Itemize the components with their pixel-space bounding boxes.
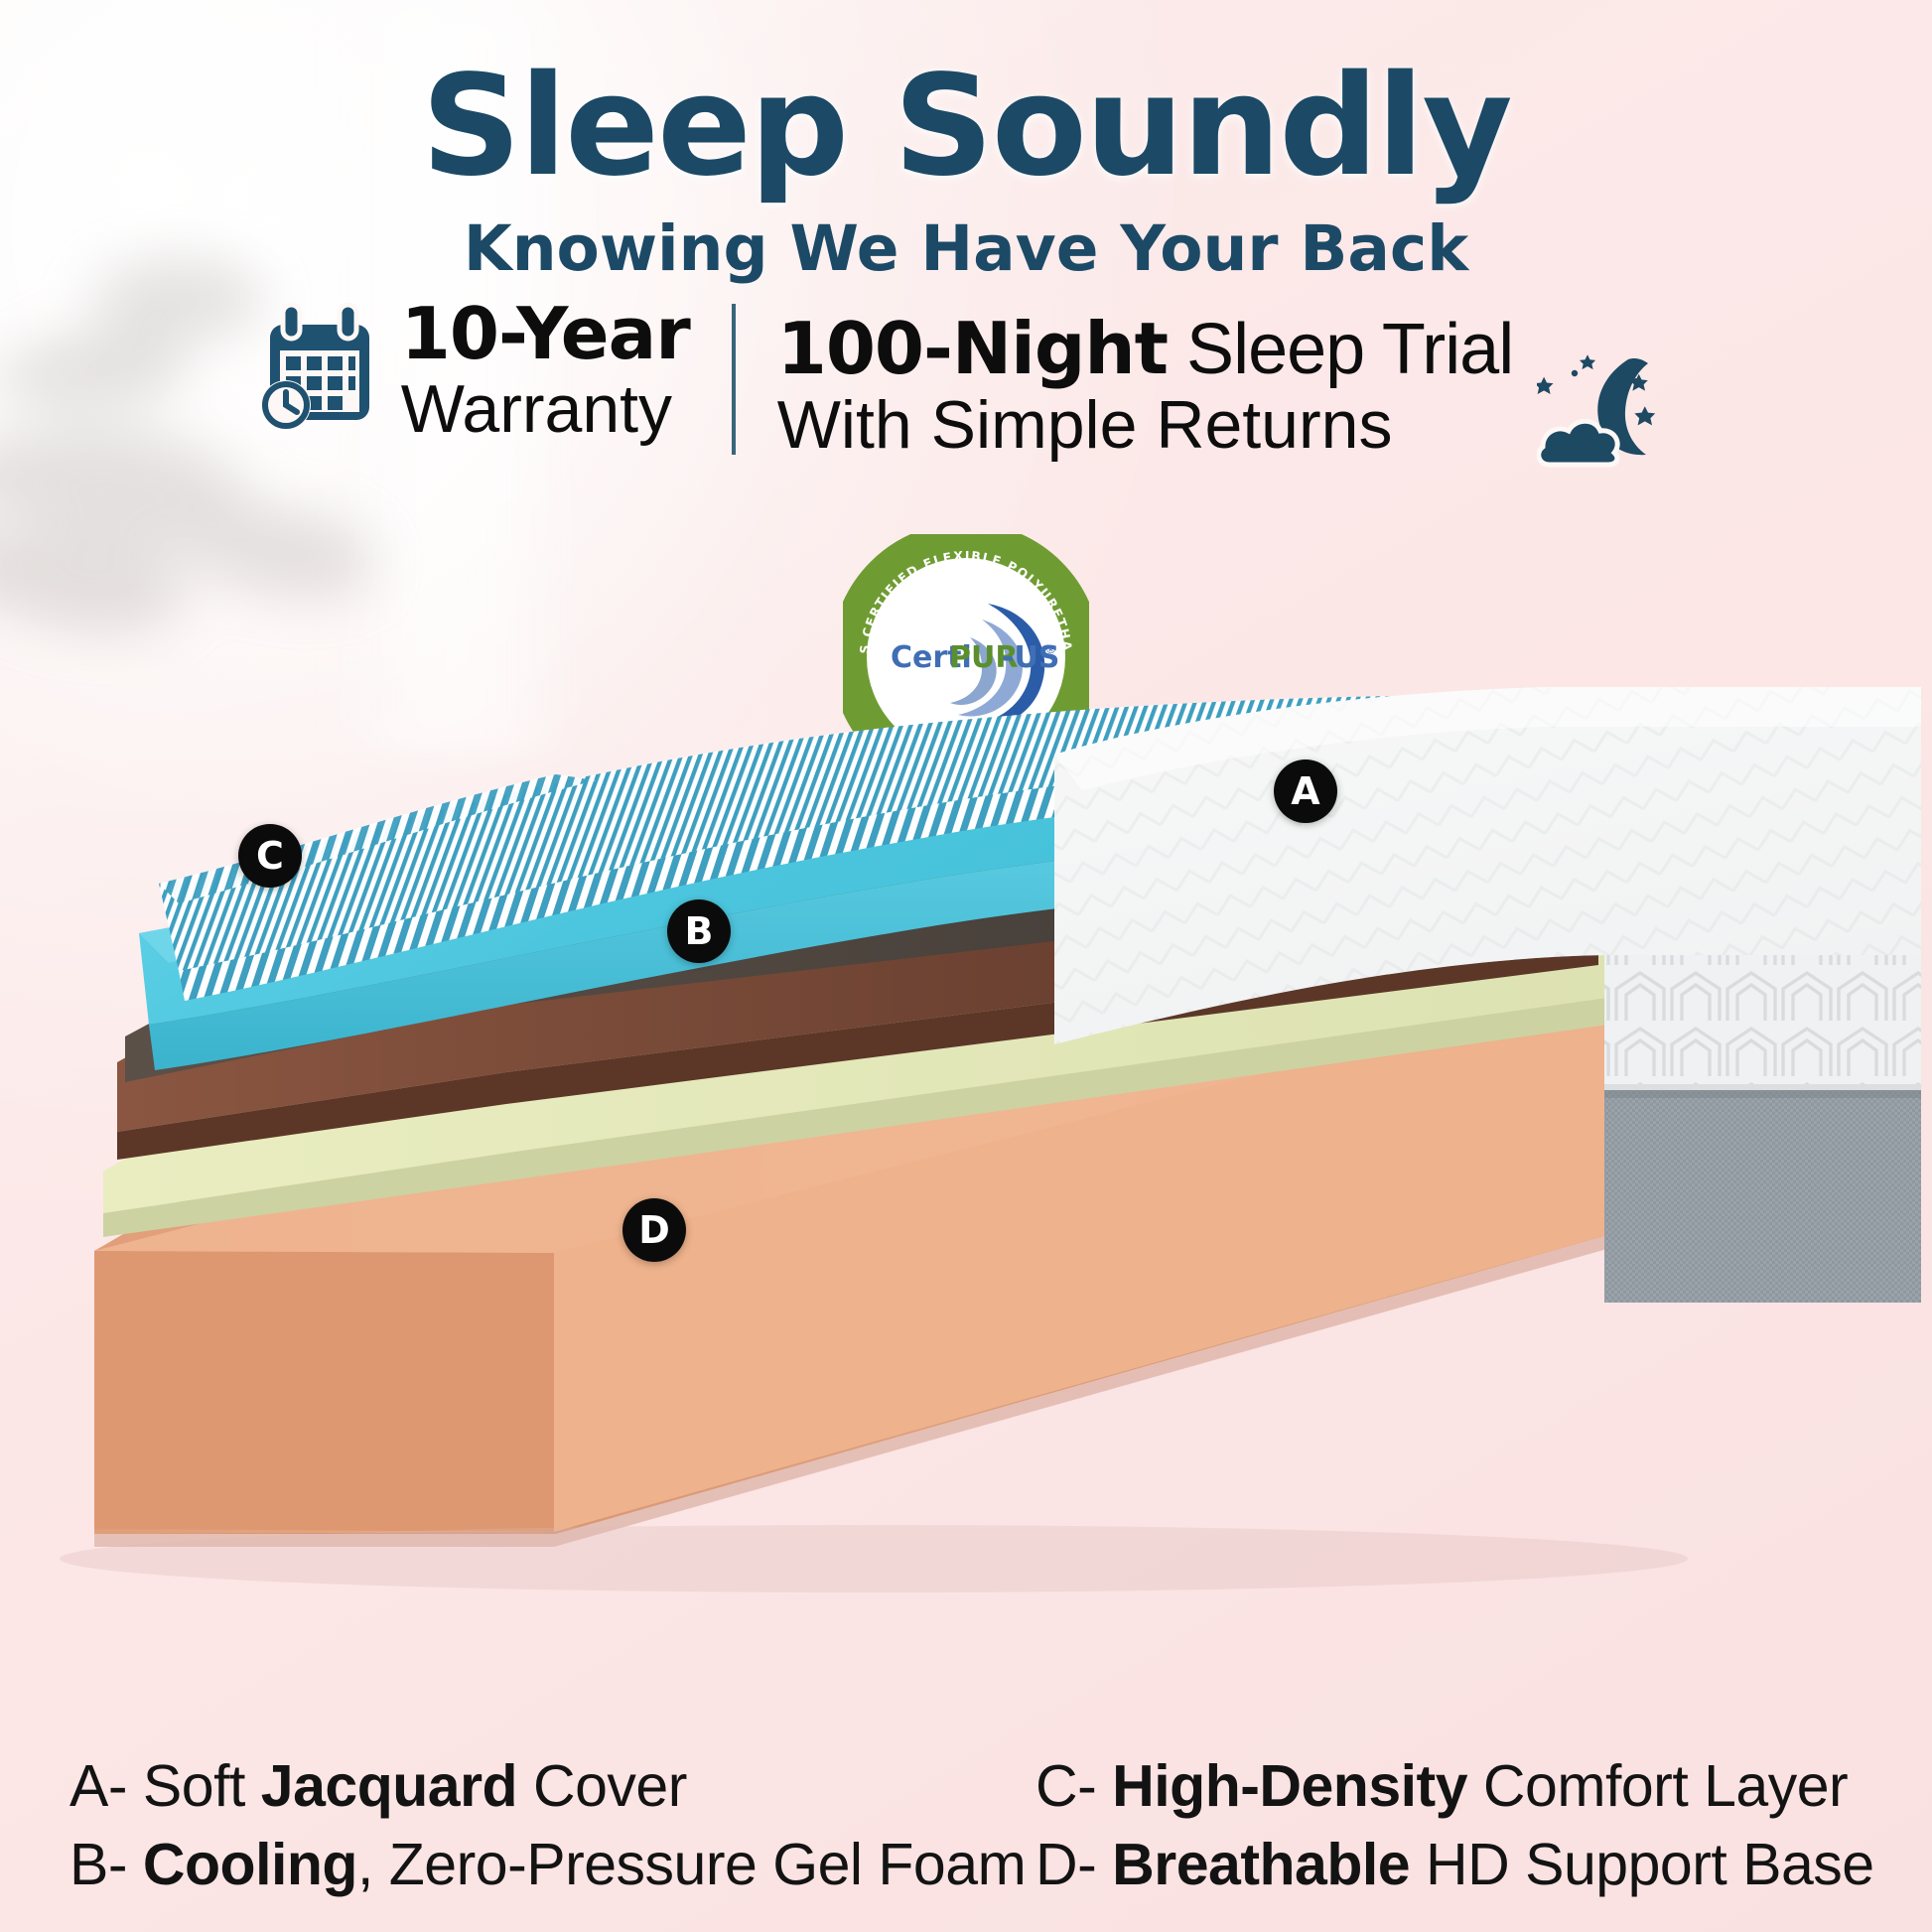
legend-item-a: A- Soft Jacquard Cover bbox=[69, 1747, 966, 1826]
layer-legend: A- Soft Jacquard Cover B- Cooling, Zero-… bbox=[0, 1747, 1932, 1904]
sleep-trial-subline: With Simple Returns bbox=[777, 391, 1514, 459]
header: Sleep Soundly Knowing We Have Your Back bbox=[0, 0, 1932, 285]
legend-item-b: B- Cooling, Zero-Pressure Gel Foam bbox=[69, 1826, 966, 1904]
sleep-trial-headline: 100-Night Sleep Trial bbox=[777, 313, 1514, 385]
calendar-clock-icon bbox=[256, 301, 383, 440]
layer-marker-d[interactable]: D bbox=[622, 1198, 686, 1262]
sleep-trial-badge-text: 100-Night Sleep Trial With Simple Return… bbox=[777, 313, 1514, 459]
sleep-trial-badge: 100-Night Sleep Trial With Simple Return… bbox=[777, 298, 1677, 473]
page-title: Sleep Soundly bbox=[0, 58, 1932, 197]
layer-marker-c[interactable]: C bbox=[238, 824, 302, 888]
page-subtitle: Knowing We Have Your Back bbox=[0, 212, 1932, 285]
legend-column-right: C- High-Density Comfort Layer D- Breatha… bbox=[966, 1747, 1863, 1904]
layer-marker-b[interactable]: B bbox=[667, 899, 731, 963]
legend-item-d: D- Breathable HD Support Base bbox=[1035, 1826, 1863, 1904]
warranty-badge: 10-Year Warranty bbox=[256, 298, 690, 443]
trust-badge-row: 10-Year Warranty 100-Night Sleep Trial W… bbox=[0, 298, 1932, 473]
warranty-headline: 10-Year bbox=[401, 298, 690, 369]
moon-cloud-stars-icon bbox=[1537, 353, 1676, 473]
legend-item-c: C- High-Density Comfort Layer bbox=[1035, 1747, 1863, 1826]
warranty-subline: Warranty bbox=[401, 375, 690, 443]
layer-marker-a[interactable]: A bbox=[1274, 759, 1337, 823]
badge-divider bbox=[732, 304, 736, 455]
legend-column-left: A- Soft Jacquard Cover B- Cooling, Zero-… bbox=[69, 1747, 966, 1904]
mattress-layer-diagram bbox=[0, 635, 1932, 1688]
warranty-badge-text: 10-Year Warranty bbox=[401, 298, 690, 443]
